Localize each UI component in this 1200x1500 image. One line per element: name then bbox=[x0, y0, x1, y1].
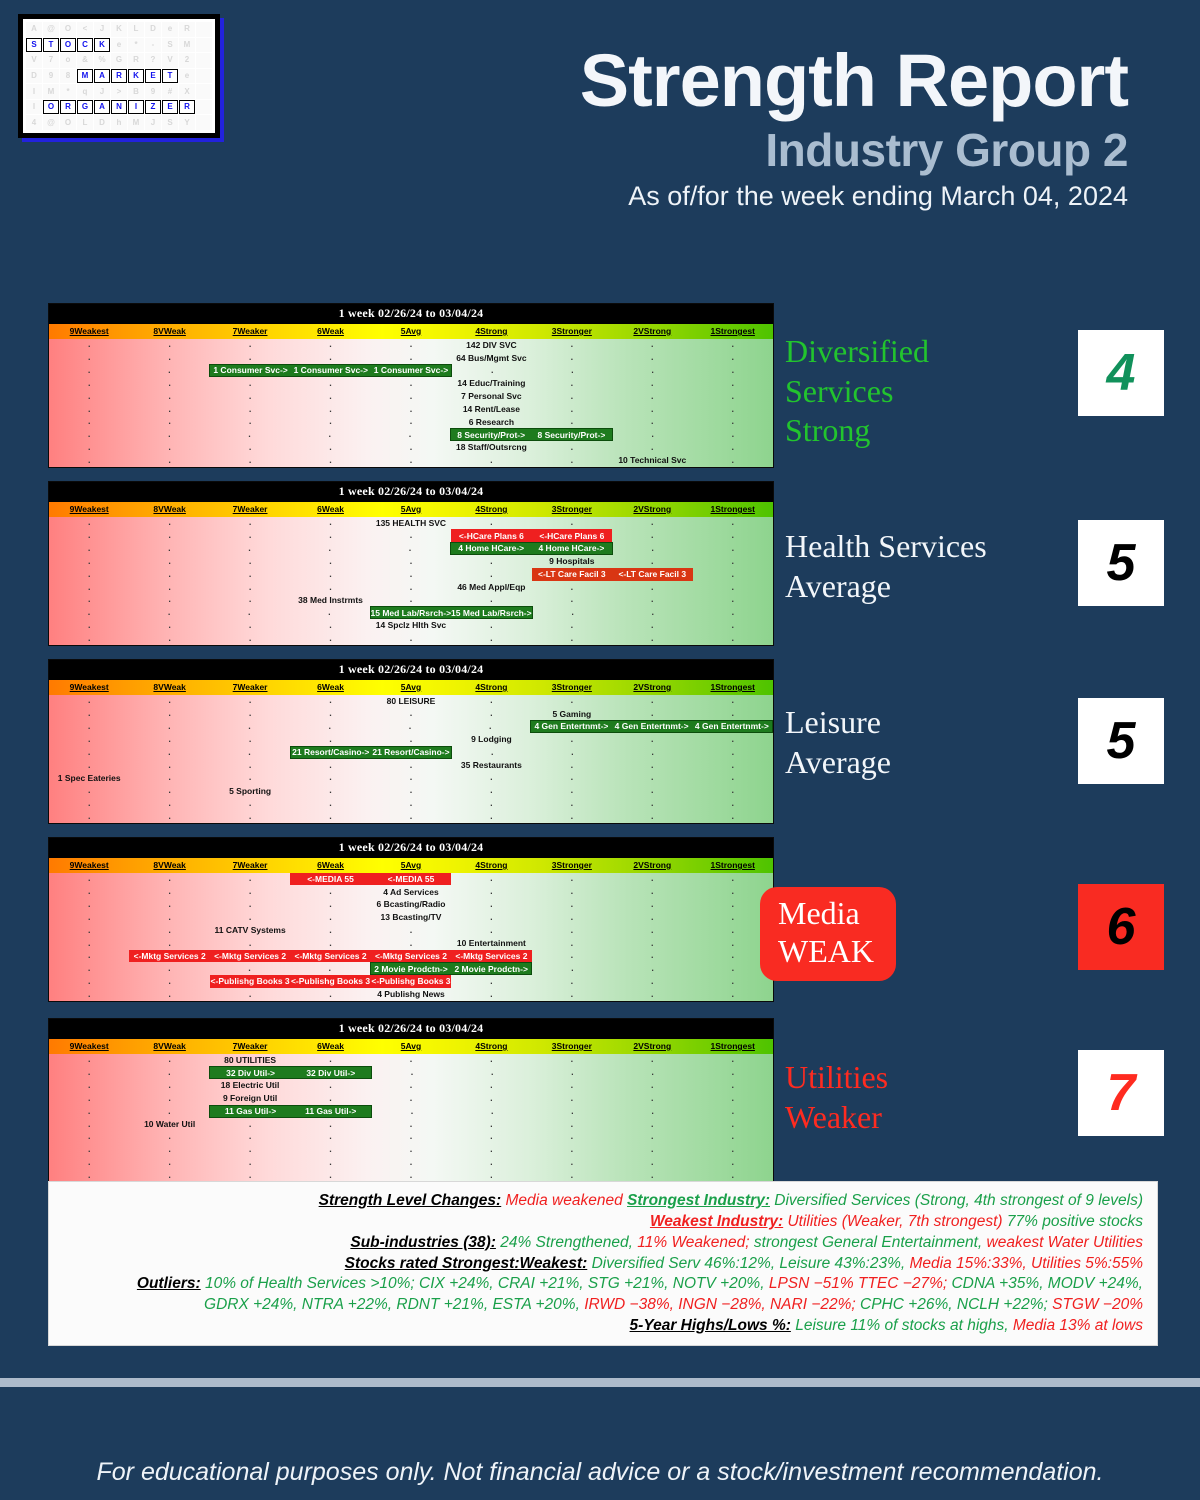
column-header-3stronger[interactable]: 3Stronger bbox=[532, 680, 612, 695]
sub-industry-cell[interactable]: 8 Security/Prot-> bbox=[531, 428, 612, 441]
column-header-2vstrong[interactable]: 2VStrong bbox=[612, 680, 692, 695]
note-segment: 24% Strengthened, bbox=[496, 1234, 633, 1251]
empty-cell: . bbox=[371, 1169, 451, 1182]
sub-industry-cell[interactable]: 4 Home HCare-> bbox=[450, 542, 531, 555]
empty-cell: . bbox=[290, 772, 370, 785]
summary-note-line: Strength Level Changes: Media weakened S… bbox=[63, 1191, 1143, 1212]
empty-cell: . bbox=[210, 517, 290, 530]
sub-industry-cell[interactable]: <-LT Care Facil 3 bbox=[532, 568, 612, 581]
empty-cell: . bbox=[693, 797, 773, 810]
column-header-1strongest[interactable]: 1Strongest bbox=[693, 324, 773, 339]
sub-industry-cell[interactable]: 9 Foreign Util bbox=[210, 1092, 290, 1105]
sub-industry-cell[interactable]: 4 Ad Services bbox=[371, 885, 451, 898]
column-header-7weaker[interactable]: 7Weaker bbox=[210, 324, 290, 339]
sub-industry-cell[interactable]: 8 Security/Prot-> bbox=[450, 428, 531, 441]
empty-cell: . bbox=[612, 975, 692, 988]
empty-cell: . bbox=[532, 772, 612, 785]
empty-cell: . bbox=[532, 898, 612, 911]
empty-cell: . bbox=[290, 707, 370, 720]
logo-cell-2-6: R bbox=[128, 53, 144, 68]
column-header-4strong[interactable]: 4Strong bbox=[451, 680, 531, 695]
note-segment: Utilities (Weaker, 7th strongest) bbox=[783, 1213, 1002, 1230]
sub-industry-cell[interactable]: <-Mktg Services 2 bbox=[371, 950, 451, 963]
empty-cell: . bbox=[371, 1079, 451, 1092]
table-row: ...<-MEDIA 55<-MEDIA 55.... bbox=[49, 873, 773, 886]
empty-cell: . bbox=[693, 1066, 773, 1079]
column-header-4strong[interactable]: 4Strong bbox=[451, 502, 531, 517]
sub-industry-cell[interactable]: 10 Water Util bbox=[129, 1118, 209, 1131]
empty-cell: . bbox=[129, 403, 209, 416]
column-header-9weakest[interactable]: 9Weakest bbox=[49, 680, 129, 695]
sub-industry-cell[interactable]: 14 Rent/Lease bbox=[451, 403, 531, 416]
empty-cell: . bbox=[210, 797, 290, 810]
sub-industry-cell[interactable]: 4 Home HCare-> bbox=[531, 542, 612, 555]
sub-industry-cell[interactable]: 11 Gas Util-> bbox=[291, 1105, 372, 1118]
logo-cell-2-2: o bbox=[60, 53, 76, 68]
logo-cell-5-2: R bbox=[60, 100, 76, 115]
empty-cell: . bbox=[612, 1118, 692, 1131]
empty-cell: . bbox=[693, 707, 773, 720]
empty-cell: . bbox=[49, 746, 129, 759]
empty-cell: . bbox=[451, 911, 531, 924]
logo-cell-1-5: e bbox=[111, 38, 127, 53]
table-row: ...38 Med Instrmts..... bbox=[49, 594, 773, 607]
sub-industry-cell[interactable]: 64 Bus/Mgmt Svc bbox=[451, 351, 531, 364]
sub-industry-cell[interactable]: <-LT Care Facil 3 bbox=[612, 568, 692, 581]
column-header-5avg[interactable]: 5Avg bbox=[371, 680, 451, 695]
logo-cell-5-5: N bbox=[111, 100, 127, 115]
empty-cell: . bbox=[129, 594, 209, 607]
empty-cell: . bbox=[451, 517, 531, 530]
column-header-6weak[interactable]: 6Weak bbox=[290, 680, 370, 695]
empty-cell: . bbox=[693, 606, 773, 619]
table-row: ......4 Gen Entertnmt->4 Gen Entertnmt->… bbox=[49, 720, 773, 733]
sub-industry-cell[interactable]: 6 Research bbox=[451, 416, 531, 429]
sub-industry-cell[interactable]: 10 Entertainment bbox=[451, 937, 531, 950]
sub-industry-cell[interactable]: 6 Bcasting/Radio bbox=[371, 898, 451, 911]
column-header-1strongest[interactable]: 1Strongest bbox=[693, 1039, 773, 1054]
table-row: ..9 Foreign Util...... bbox=[49, 1092, 773, 1105]
column-header-6weak[interactable]: 6Weak bbox=[290, 502, 370, 517]
empty-cell: . bbox=[532, 937, 612, 950]
column-header-8vweak[interactable]: 8VWeak bbox=[129, 502, 209, 517]
empty-cell: . bbox=[210, 416, 290, 429]
column-header-7weaker[interactable]: 7Weaker bbox=[210, 1039, 290, 1054]
sub-industry-cell[interactable]: <-Publishg Books 3 bbox=[290, 975, 370, 988]
empty-cell: . bbox=[532, 759, 612, 772]
empty-cell: . bbox=[693, 555, 773, 568]
logo-cell-3-2: 8 bbox=[60, 69, 76, 84]
column-header-3stronger[interactable]: 3Stronger bbox=[532, 502, 612, 517]
logo-cell-1-7: - bbox=[145, 38, 161, 53]
sub-industry-cell[interactable]: 1 Spec Eateries bbox=[49, 772, 129, 785]
empty-cell: . bbox=[612, 759, 692, 772]
empty-cell: . bbox=[49, 517, 129, 530]
table-row: ......... bbox=[49, 632, 773, 645]
empty-cell: . bbox=[129, 1079, 209, 1092]
table-row: ....4 Ad Services.... bbox=[49, 885, 773, 898]
empty-cell: . bbox=[693, 441, 773, 454]
empty-cell: . bbox=[613, 962, 693, 975]
empty-cell: . bbox=[129, 759, 209, 772]
table-row: .....9 Lodging... bbox=[49, 733, 773, 746]
column-header-6weak[interactable]: 6Weak bbox=[290, 858, 370, 873]
empty-cell: . bbox=[532, 962, 612, 975]
sub-industry-cell[interactable]: 38 Med Instrmts bbox=[290, 594, 370, 607]
empty-cell: . bbox=[209, 542, 289, 555]
empty-cell: . bbox=[290, 403, 370, 416]
industry-label-utilities: UtilitiesWeaker bbox=[785, 1058, 888, 1137]
logo-cell-1-4: K bbox=[94, 38, 110, 53]
empty-cell: . bbox=[129, 351, 209, 364]
column-header-8vweak[interactable]: 8VWeak bbox=[129, 680, 209, 695]
empty-cell: . bbox=[612, 898, 692, 911]
empty-cell: . bbox=[612, 517, 692, 530]
empty-cell: . bbox=[451, 898, 531, 911]
empty-cell: . bbox=[693, 390, 773, 403]
empty-cell: . bbox=[129, 937, 209, 950]
column-header-3stronger[interactable]: 3Stronger bbox=[532, 858, 612, 873]
empty-cell: . bbox=[532, 390, 612, 403]
empty-cell: . bbox=[451, 1131, 531, 1144]
summary-note-line: Outliers: 10% of Health Services >10%; C… bbox=[63, 1274, 1143, 1295]
column-header-6weak[interactable]: 6Weak bbox=[290, 1039, 370, 1054]
empty-cell: . bbox=[693, 542, 773, 555]
note-segment: Strength Level Changes: bbox=[319, 1192, 502, 1209]
empty-cell: . bbox=[210, 772, 290, 785]
empty-cell: . bbox=[290, 1143, 370, 1156]
empty-cell: . bbox=[290, 351, 370, 364]
table-row: ......... bbox=[49, 1131, 773, 1144]
column-header-1strongest[interactable]: 1Strongest bbox=[693, 858, 773, 873]
empty-cell: . bbox=[612, 1156, 692, 1169]
note-segment: Diversified Services (Strong, 4th strong… bbox=[770, 1192, 1143, 1209]
empty-cell: . bbox=[210, 898, 290, 911]
table-row: .......10 Technical Svc. bbox=[49, 454, 773, 467]
empty-cell: . bbox=[129, 339, 209, 352]
empty-cell: . bbox=[613, 364, 693, 377]
empty-cell: . bbox=[693, 568, 773, 581]
empty-cell: . bbox=[210, 351, 290, 364]
column-header-8vweak[interactable]: 8VWeak bbox=[129, 1039, 209, 1054]
summary-note-line: GDRX +24%, NTRA +22%, RDNT +21%, ESTA +2… bbox=[63, 1295, 1143, 1316]
logo-cell-4-9: X bbox=[179, 84, 195, 99]
empty-cell: . bbox=[532, 1143, 612, 1156]
empty-cell: . bbox=[290, 454, 370, 467]
logo-cell-6-7: J bbox=[145, 115, 161, 130]
empty-cell: . bbox=[129, 1156, 209, 1169]
empty-cell: . bbox=[612, 873, 692, 886]
sub-industry-cell[interactable]: <-Mktg Services 2 bbox=[451, 950, 531, 963]
empty-cell: . bbox=[49, 416, 129, 429]
sub-industry-cell[interactable]: 32 Div Util-> bbox=[291, 1066, 372, 1079]
note-segment: IRWD −38%, INGN −28%, NARI −22%; bbox=[580, 1296, 856, 1313]
page-title: Strength Report bbox=[580, 46, 1128, 116]
panel-body: .....142 DIV SVC........64 Bus/Mgmt Svc.… bbox=[49, 339, 773, 467]
empty-cell: . bbox=[371, 529, 451, 542]
sub-industry-cell[interactable]: 35 Restaurants bbox=[451, 759, 531, 772]
column-header-4strong[interactable]: 4Strong bbox=[451, 324, 531, 339]
sub-industry-cell[interactable]: 21 Resort/Casino-> bbox=[371, 746, 452, 759]
strength-score-box-health-services: 5 bbox=[1078, 520, 1164, 606]
empty-cell: . bbox=[49, 1092, 129, 1105]
logo-cell-0-10 bbox=[196, 22, 212, 37]
panel-period-title: 1 week 02/26/24 to 03/04/24 bbox=[49, 838, 773, 858]
column-header-9weakest[interactable]: 9Weakest bbox=[49, 1039, 129, 1054]
empty-cell: . bbox=[532, 1092, 612, 1105]
sub-industry-cell[interactable]: 1 Consumer Svc-> bbox=[291, 364, 371, 377]
table-row: ....14 Spclz Hlth Svc.... bbox=[49, 619, 773, 632]
sub-industry-cell[interactable]: <-MEDIA 55 bbox=[371, 873, 451, 886]
table-row: .10 Water Util....... bbox=[49, 1118, 773, 1131]
empty-cell: . bbox=[612, 351, 692, 364]
empty-cell: . bbox=[210, 1156, 290, 1169]
table-row: ..18 Electric Util...... bbox=[49, 1079, 773, 1092]
sub-industry-cell[interactable]: 46 Med Appl/Eqp bbox=[451, 581, 531, 594]
empty-cell: . bbox=[210, 1118, 290, 1131]
sub-industry-cell[interactable]: 2 Movie Prodctn-> bbox=[451, 962, 532, 975]
column-header-7weaker[interactable]: 7Weaker bbox=[210, 858, 290, 873]
sub-industry-cell[interactable]: 80 LEISURE bbox=[371, 695, 451, 708]
empty-cell: . bbox=[290, 441, 370, 454]
empty-cell: . bbox=[451, 1079, 531, 1092]
table-row: .....6 Research... bbox=[49, 416, 773, 429]
empty-cell: . bbox=[451, 619, 531, 632]
sub-industry-cell[interactable]: <-Publishg Books 3 bbox=[371, 975, 451, 988]
empty-cell: . bbox=[452, 364, 532, 377]
empty-cell: . bbox=[49, 885, 129, 898]
empty-cell: . bbox=[49, 924, 129, 937]
empty-cell: . bbox=[612, 733, 692, 746]
empty-cell: . bbox=[693, 784, 773, 797]
empty-cell: . bbox=[693, 377, 773, 390]
empty-cell: . bbox=[129, 364, 209, 377]
empty-cell: . bbox=[290, 568, 370, 581]
column-header-7weaker[interactable]: 7Weaker bbox=[210, 502, 290, 517]
column-header-2vstrong[interactable]: 2VStrong bbox=[612, 502, 692, 517]
empty-cell: . bbox=[210, 1143, 290, 1156]
logo-cell-0-8: e bbox=[162, 22, 178, 37]
logo-cell-1-6: * bbox=[128, 38, 144, 53]
logo-cell-2-5: G bbox=[111, 53, 127, 68]
empty-cell: . bbox=[210, 441, 290, 454]
empty-cell: . bbox=[612, 707, 692, 720]
sub-industry-cell[interactable]: 142 DIV SVC bbox=[451, 339, 531, 352]
strength-score-box-diversified-services: 4 bbox=[1078, 330, 1164, 416]
empty-cell: . bbox=[532, 885, 612, 898]
sub-industry-cell[interactable]: 5 Gaming bbox=[532, 707, 612, 720]
empty-cell: . bbox=[49, 441, 129, 454]
sub-industry-cell[interactable]: <-Mktg Services 2 bbox=[290, 950, 370, 963]
sub-industry-cell[interactable]: 4 Publishg News bbox=[371, 988, 451, 1001]
sub-industry-cell[interactable]: <-HCare Plans 6 bbox=[532, 529, 612, 542]
sub-industry-cell[interactable]: 135 HEALTH SVC bbox=[371, 517, 451, 530]
logo-cell-0-3: < bbox=[77, 22, 93, 37]
note-segment: STGW −20% bbox=[1048, 1296, 1143, 1313]
table-row: ..<-Publishg Books 3<-Publishg Books 3<-… bbox=[49, 975, 773, 988]
sub-industry-cell[interactable]: 4 Gen Entertnmt-> bbox=[692, 720, 773, 733]
panel-column-headers: 9Weakest8VWeak7Weaker6Weak5Avg4Strong3St… bbox=[49, 1039, 773, 1054]
sub-industry-cell[interactable]: 4 Gen Entertnmt-> bbox=[530, 720, 611, 733]
sub-industry-cell[interactable]: 15 Med Lab/Rsrch-> bbox=[370, 606, 452, 619]
column-header-5avg[interactable]: 5Avg bbox=[371, 324, 451, 339]
column-header-2vstrong[interactable]: 2VStrong bbox=[612, 1039, 692, 1054]
sub-industry-cell[interactable]: 11 Gas Util-> bbox=[209, 1105, 290, 1118]
sub-industry-cell[interactable]: 5 Sporting bbox=[210, 784, 290, 797]
sub-industry-cell[interactable]: 32 Div Util-> bbox=[209, 1066, 290, 1079]
industry-name: Media bbox=[778, 894, 874, 932]
sub-industry-cell[interactable]: 7 Personal Svc bbox=[451, 390, 531, 403]
note-segment: Media 15%:33%, Utilities 5%:55% bbox=[905, 1255, 1143, 1272]
empty-cell: . bbox=[612, 1143, 692, 1156]
note-segment: strongest General Entertainment, bbox=[750, 1234, 983, 1251]
empty-cell: . bbox=[371, 1118, 451, 1131]
empty-cell: . bbox=[612, 416, 692, 429]
empty-cell: . bbox=[49, 1054, 129, 1067]
empty-cell: . bbox=[451, 707, 531, 720]
sub-industry-cell[interactable]: 80 UTILITIES bbox=[210, 1054, 290, 1067]
summary-note-line: Sub-industries (38): 24% Strengthened, 1… bbox=[63, 1233, 1143, 1254]
empty-cell: . bbox=[371, 416, 451, 429]
sub-industry-cell[interactable]: 21 Resort/Casino-> bbox=[290, 746, 371, 759]
strength-panel-diversified-services: 1 week 02/26/24 to 03/04/249Weakest8VWea… bbox=[48, 303, 774, 468]
empty-cell: . bbox=[532, 975, 612, 988]
sub-industry-cell[interactable]: <-MEDIA 55 bbox=[290, 873, 370, 886]
column-header-8vweak[interactable]: 8VWeak bbox=[129, 858, 209, 873]
column-header-5avg[interactable]: 5Avg bbox=[371, 858, 451, 873]
logo-cell-3-1: 9 bbox=[43, 69, 59, 84]
empty-cell: . bbox=[693, 873, 773, 886]
empty-cell: . bbox=[129, 1143, 209, 1156]
sub-industry-cell[interactable]: 1 Consumer Svc-> bbox=[209, 364, 290, 377]
empty-cell: . bbox=[49, 1156, 129, 1169]
empty-cell: . bbox=[612, 632, 692, 645]
empty-cell: . bbox=[532, 746, 612, 759]
sub-industry-cell[interactable]: 14 Spclz Hlth Svc bbox=[371, 619, 451, 632]
empty-cell: . bbox=[612, 377, 692, 390]
table-row: .....7 Personal Svc... bbox=[49, 390, 773, 403]
table-row: .....<-HCare Plans 6<-HCare Plans 6.. bbox=[49, 529, 773, 542]
column-header-8vweak[interactable]: 8VWeak bbox=[129, 324, 209, 339]
column-header-9weakest[interactable]: 9Weakest bbox=[49, 858, 129, 873]
empty-cell: . bbox=[129, 911, 209, 924]
logo-cell-0-9: R bbox=[179, 22, 195, 37]
column-header-4strong[interactable]: 4Strong bbox=[451, 1039, 531, 1054]
column-header-5avg[interactable]: 5Avg bbox=[371, 1039, 451, 1054]
sub-industry-cell[interactable]: 18 Electric Util bbox=[210, 1079, 290, 1092]
empty-cell: . bbox=[129, 988, 209, 1001]
column-header-9weakest[interactable]: 9Weakest bbox=[49, 502, 129, 517]
sub-industry-cell[interactable]: 1 Consumer Svc-> bbox=[371, 364, 452, 377]
empty-cell: . bbox=[693, 581, 773, 594]
empty-cell: . bbox=[693, 772, 773, 785]
logo-cell-3-10 bbox=[196, 69, 212, 84]
empty-cell: . bbox=[532, 695, 612, 708]
empty-cell: . bbox=[371, 441, 451, 454]
table-row: ..80 UTILITIES...... bbox=[49, 1054, 773, 1067]
logo-cell-2-1: 7 bbox=[43, 53, 59, 68]
table-row: ..1 Consumer Svc->1 Consumer Svc->1 Cons… bbox=[49, 364, 773, 377]
summary-note-line: Weakest Industry: Utilities (Weaker, 7th… bbox=[63, 1212, 1143, 1233]
empty-cell: . bbox=[693, 619, 773, 632]
sub-industry-cell[interactable]: <-HCare Plans 6 bbox=[451, 529, 531, 542]
table-row: .....14 Educ/Training... bbox=[49, 377, 773, 390]
empty-cell: . bbox=[532, 950, 612, 963]
empty-cell: . bbox=[613, 428, 693, 441]
sub-industry-cell[interactable]: 13 Bcasting/TV bbox=[371, 911, 451, 924]
empty-cell: . bbox=[693, 529, 773, 542]
column-header-5avg[interactable]: 5Avg bbox=[371, 502, 451, 517]
sub-industry-cell[interactable]: 15 Med Lab/Rsrch-> bbox=[451, 606, 533, 619]
column-header-3stronger[interactable]: 3Stronger bbox=[532, 324, 612, 339]
empty-cell: . bbox=[613, 746, 693, 759]
empty-cell: . bbox=[693, 810, 773, 823]
empty-cell: . bbox=[210, 810, 290, 823]
empty-cell: . bbox=[613, 606, 693, 619]
empty-cell: . bbox=[451, 772, 531, 785]
empty-cell: . bbox=[210, 568, 290, 581]
empty-cell: . bbox=[532, 924, 612, 937]
column-header-7weaker[interactable]: 7Weaker bbox=[210, 680, 290, 695]
sub-industry-cell[interactable]: <-Mktg Services 2 bbox=[129, 950, 209, 963]
summary-notes: Strength Level Changes: Media weakened S… bbox=[48, 1181, 1158, 1346]
empty-cell: . bbox=[693, 988, 773, 1001]
empty-cell: . bbox=[372, 1105, 452, 1118]
column-header-1strongest[interactable]: 1Strongest bbox=[693, 680, 773, 695]
empty-cell: . bbox=[612, 885, 692, 898]
logo-cell-4-1: M bbox=[43, 84, 59, 99]
empty-cell: . bbox=[49, 619, 129, 632]
empty-cell: . bbox=[129, 542, 209, 555]
empty-cell: . bbox=[290, 810, 370, 823]
table-row: 1 Spec Eateries........ bbox=[49, 772, 773, 785]
empty-cell: . bbox=[450, 720, 530, 733]
sub-industry-cell[interactable]: 2 Movie Prodctn-> bbox=[370, 962, 451, 975]
table-row: ......... bbox=[49, 810, 773, 823]
column-header-6weak[interactable]: 6Weak bbox=[290, 324, 370, 339]
empty-cell: . bbox=[371, 810, 451, 823]
sub-industry-cell[interactable]: <-Mktg Services 2 bbox=[210, 950, 290, 963]
empty-cell: . bbox=[612, 924, 692, 937]
column-header-2vstrong[interactable]: 2VStrong bbox=[612, 858, 692, 873]
empty-cell: . bbox=[612, 988, 692, 1001]
sub-industry-cell[interactable]: 4 Gen Entertnmt-> bbox=[612, 720, 692, 733]
sub-industry-cell[interactable]: 9 Hospitals bbox=[532, 555, 612, 568]
column-header-9weakest[interactable]: 9Weakest bbox=[49, 324, 129, 339]
column-header-3stronger[interactable]: 3Stronger bbox=[532, 1039, 612, 1054]
empty-cell: . bbox=[532, 797, 612, 810]
sub-industry-cell[interactable]: 18 Staff/Outsrcng bbox=[451, 441, 531, 454]
page-subtitle: Industry Group 2 bbox=[580, 126, 1128, 174]
column-header-4strong[interactable]: 4Strong bbox=[451, 858, 531, 873]
logo-cell-6-9: Y bbox=[179, 115, 195, 130]
sub-industry-cell[interactable]: 10 Technical Svc bbox=[612, 454, 692, 467]
table-row: ..32 Div Util->32 Div Util->..... bbox=[49, 1066, 773, 1079]
empty-cell: . bbox=[693, 1054, 773, 1067]
column-header-1strongest[interactable]: 1Strongest bbox=[693, 502, 773, 517]
column-header-2vstrong[interactable]: 2VStrong bbox=[612, 324, 692, 339]
empty-cell: . bbox=[532, 1066, 612, 1079]
sub-industry-cell[interactable]: 14 Educ/Training bbox=[451, 377, 531, 390]
logo-cell-6-8: S bbox=[162, 115, 178, 130]
sub-industry-cell[interactable]: 11 CATV Systems bbox=[210, 924, 290, 937]
empty-cell: . bbox=[532, 873, 612, 886]
empty-cell: . bbox=[532, 441, 612, 454]
sub-industry-cell[interactable]: <-Publishg Books 3 bbox=[210, 975, 290, 988]
sub-industry-cell[interactable]: 9 Lodging bbox=[451, 733, 531, 746]
empty-cell: . bbox=[693, 733, 773, 746]
empty-cell: . bbox=[49, 707, 129, 720]
